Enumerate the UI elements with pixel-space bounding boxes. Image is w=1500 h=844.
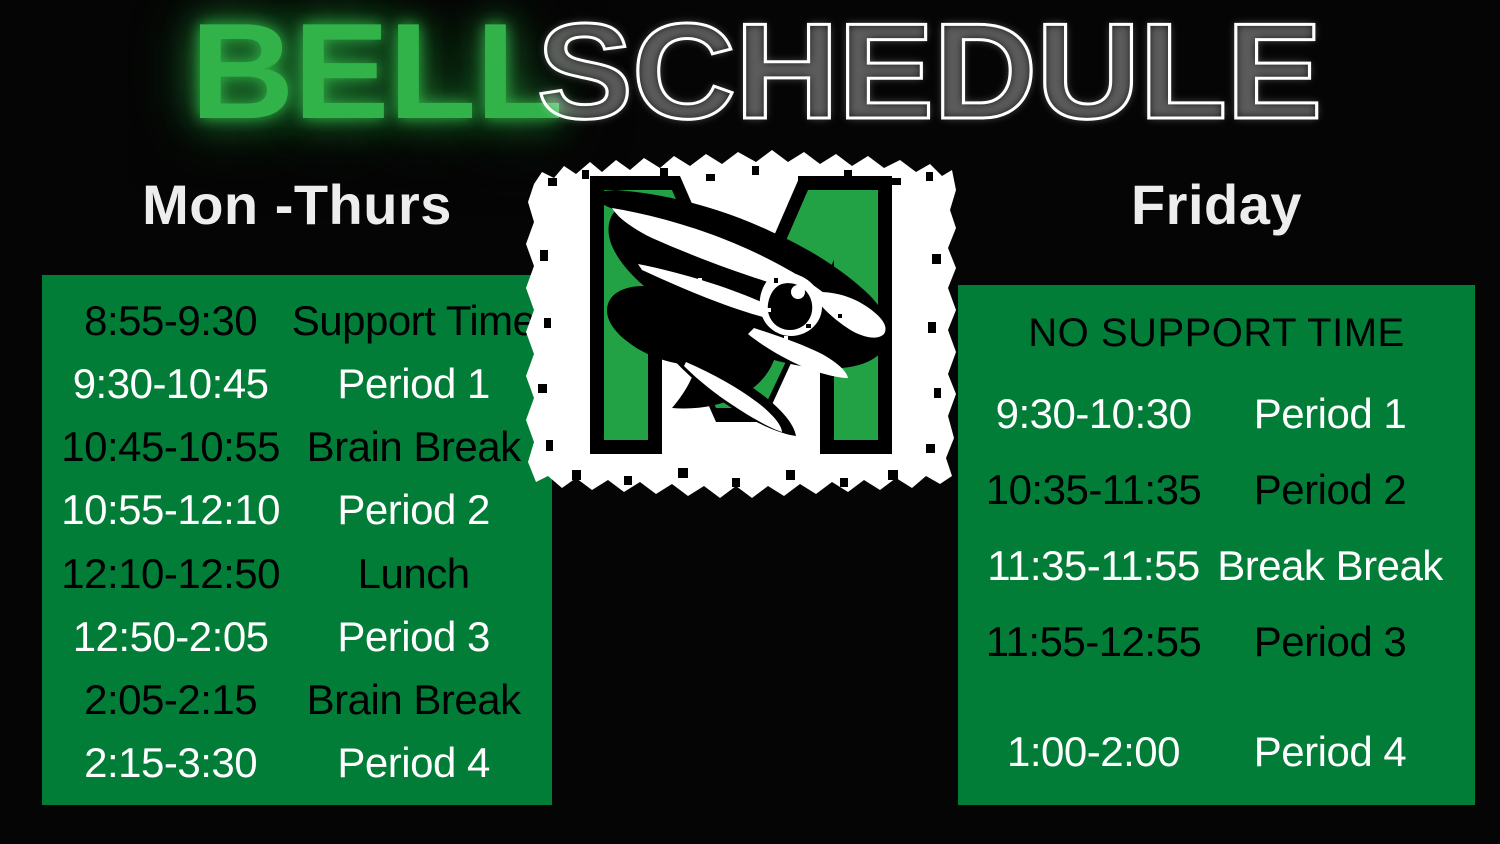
row-time: 2:05-2:15	[54, 676, 287, 724]
schedule-row: 1:00-2:00 Period 4	[980, 728, 1453, 776]
row-label: Brain Break	[287, 423, 540, 471]
row-label: Support Time	[287, 297, 540, 345]
row-time: 1:00-2:00	[980, 728, 1207, 776]
row-label: Period 3	[1207, 618, 1453, 666]
schedule-row: 12:50-2:05 Period 3	[54, 613, 540, 661]
row-label: Period 2	[287, 486, 540, 534]
row-label: Period 1	[287, 360, 540, 408]
row-label: Brain Break	[287, 676, 540, 724]
row-time: 10:55-12:10	[54, 486, 287, 534]
row-label: Period 4	[1207, 728, 1453, 776]
title-word-schedule: SCHEDULE	[536, 3, 1320, 139]
title-word-bell: BELL	[191, 3, 570, 139]
schedule-panel-friday: NO SUPPORT TIME 9:30-10:30 Period 1 10:3…	[958, 285, 1475, 805]
row-time: 8:55-9:30	[54, 297, 287, 345]
schedule-row: 10:55-12:10 Period 2	[54, 486, 540, 534]
page-title: BELL SCHEDULE	[0, 6, 1500, 136]
notice-text: NO SUPPORT TIME	[980, 311, 1453, 356]
row-label: Lunch	[287, 550, 540, 598]
row-time: 10:45-10:55	[54, 423, 287, 471]
row-time: 12:50-2:05	[54, 613, 287, 661]
school-logo	[520, 132, 960, 530]
schedule-row: 10:35-11:35 Period 2	[980, 466, 1453, 514]
row-time: 2:15-3:30	[54, 739, 287, 787]
row-time: 9:30-10:30	[980, 390, 1207, 438]
row-time: 9:30-10:45	[54, 360, 287, 408]
row-label: Period 3	[287, 613, 540, 661]
row-label: Break Break	[1207, 542, 1453, 590]
row-time: 11:55-12:55	[980, 618, 1207, 666]
row-time: 12:10-12:50	[54, 550, 287, 598]
heading-friday: Friday	[958, 172, 1475, 237]
schedule-row: 11:35-11:55 Break Break	[980, 542, 1453, 590]
schedule-panel-mon-thurs: 8:55-9:30 Support Time 9:30-10:45 Period…	[42, 275, 552, 805]
schedule-row: 12:10-12:50 Lunch	[54, 550, 540, 598]
schedule-row: 10:45-10:55 Brain Break	[54, 423, 540, 471]
row-time: 11:35-11:55	[980, 542, 1207, 590]
row-label: Period 1	[1207, 390, 1453, 438]
row-label: Period 4	[287, 739, 540, 787]
schedule-row: 11:55-12:55 Period 3	[980, 618, 1453, 666]
schedule-row: 2:05-2:15 Brain Break	[54, 676, 540, 724]
schedule-row: 8:55-9:30 Support Time	[54, 297, 540, 345]
no-support-time-notice: NO SUPPORT TIME	[980, 311, 1453, 356]
schedule-row: 9:30-10:30 Period 1	[980, 390, 1453, 438]
schedule-row: 9:30-10:45 Period 1	[54, 360, 540, 408]
heading-mon-thurs: Mon -Thurs	[42, 172, 552, 237]
schedule-row: 2:15-3:30 Period 4	[54, 739, 540, 787]
row-label: Period 2	[1207, 466, 1453, 514]
row-time: 10:35-11:35	[980, 466, 1207, 514]
bell-schedule-poster: BELL SCHEDULE Mon -Thurs Friday 8:55-9:3…	[0, 0, 1500, 844]
